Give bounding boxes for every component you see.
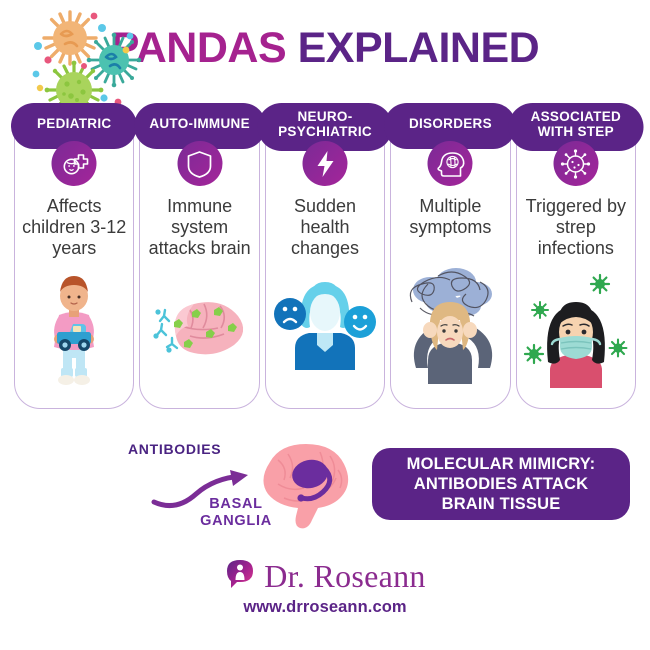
callout-line1: MOLECULAR MIMICRY: <box>407 454 596 474</box>
basal-ganglia-label: BASAL GANGLIA <box>186 496 286 530</box>
basal-ganglia-label-line1: BASAL <box>186 496 286 513</box>
molecular-mimicry-callout: MOLECULAR MIMICRY: ANTIBODIES ATTACK BRA… <box>372 448 630 520</box>
virus-icon <box>553 141 598 186</box>
girl-wearing-face-mask-illustration <box>517 263 635 388</box>
card-body-text: Affects children 3-12 years <box>19 196 129 259</box>
shield-icon <box>177 141 222 186</box>
brand-row: Dr. Roseann <box>0 558 650 594</box>
card-associated-with-step: ASSOCIATED WITH STEP Triggered by strep … <box>516 103 636 409</box>
card-disorders: DISORDERS Multiple symptoms <box>390 103 510 409</box>
callout-line2: ANTIBODIES ATTACK <box>407 474 596 494</box>
card-body-text: Immune system attacks brain <box>144 196 254 259</box>
stressed-person-tangled-thoughts-illustration <box>391 254 509 384</box>
card-auto-immune: AUTO-IMMUNE Immune system attacks brain <box>139 103 259 409</box>
basal-ganglia-label-line2: GANGLIA <box>186 513 286 530</box>
lightning-bolt-icon <box>303 141 348 186</box>
card-neuro-psychiatric: NEURO-PSYCHIATRIC Sudden health changes <box>265 103 385 409</box>
card-pediatric: PEDIATRIC Affects children 3-12 years <box>14 103 134 409</box>
brand-name: Dr. Roseann <box>264 559 426 593</box>
callout-line3: BRAIN TISSUE <box>407 494 596 514</box>
speech-bubble-person-logo-icon <box>224 558 256 595</box>
feature-card-row: PEDIATRIC Affects children 3-12 years <box>14 103 636 409</box>
head-tangled-thoughts-icon <box>428 141 473 186</box>
page-title-part2: EXPLAINED <box>298 24 540 72</box>
card-body-text: Sudden health changes <box>270 196 380 259</box>
brain-with-antibodies-illustration <box>140 271 258 366</box>
baby-medical-cross-icon <box>52 141 97 186</box>
card-body-text: Triggered by strep infections <box>521 196 631 259</box>
brand-url: www.drroseann.com <box>0 598 650 617</box>
card-body-text: Multiple symptoms <box>395 196 505 238</box>
child-holding-toy-truck-illustration <box>15 266 133 396</box>
antibodies-label: ANTIBODIES <box>128 441 221 457</box>
footer: Dr. Roseann www.drroseann.com <box>0 558 650 617</box>
person-with-mood-faces-illustration <box>266 260 384 370</box>
